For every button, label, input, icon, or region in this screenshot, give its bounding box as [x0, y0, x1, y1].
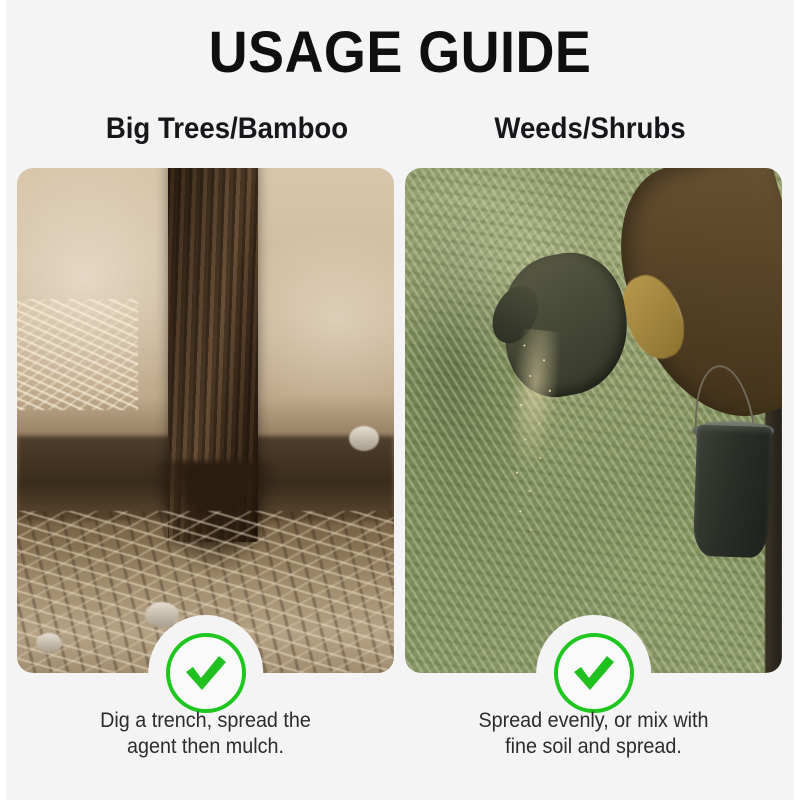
caption-weeds: Spread evenly, or mix with fine soil and… — [416, 708, 770, 760]
pebble — [145, 602, 179, 627]
usage-card-weeds — [405, 168, 782, 673]
check-badge-big-trees — [166, 633, 246, 713]
caption-line-2: fine soil and spread. — [416, 734, 770, 760]
dry-grass — [17, 299, 138, 410]
check-badge-weeds — [554, 633, 634, 713]
usage-guide-page: USAGE GUIDE Big Trees/Bamboo Weeds/Shrub… — [0, 0, 800, 800]
caption-big-trees: Dig a trench, spread the agent then mulc… — [28, 708, 382, 760]
caption-line-2: agent then mulch. — [28, 734, 382, 760]
usage-card-big-trees — [17, 168, 394, 673]
check-icon — [571, 653, 617, 693]
page-left-edge — [0, 0, 6, 800]
pebble — [36, 633, 62, 653]
photo-weeds — [405, 168, 782, 673]
column-heading-big-trees: Big Trees/Bamboo — [43, 112, 411, 146]
photo-big-trees — [17, 168, 394, 673]
bucket — [693, 424, 773, 558]
caption-line-1: Dig a trench, spread the — [28, 708, 382, 734]
check-icon — [183, 653, 229, 693]
column-heading-weeds: Weeds/Shrubs — [406, 112, 774, 146]
page-right-edge — [794, 0, 800, 800]
caption-line-1: Spread evenly, or mix with — [416, 708, 770, 734]
page-title: USAGE GUIDE — [28, 24, 772, 82]
pebble — [349, 426, 379, 451]
